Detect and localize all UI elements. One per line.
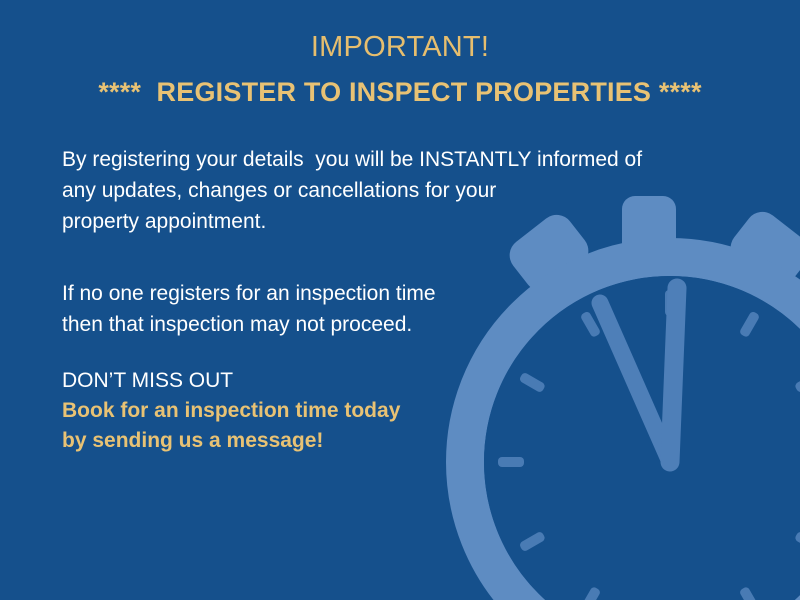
cta-book-inspection: Book for an inspection time today [62, 396, 582, 426]
body-paragraph-no-registrations: If no one registers for an inspection ti… [62, 278, 722, 340]
headline-register: **** REGISTER TO INSPECT PROPERTIES **** [0, 72, 800, 112]
headline-important: IMPORTANT! [0, 28, 800, 66]
stopwatch-right-button [724, 205, 800, 295]
body-copy-block: By registering your details you will be … [62, 144, 722, 340]
call-to-action-block: DON’T MISS OUT Book for an inspection ti… [62, 366, 582, 456]
headline-block: IMPORTANT! **** REGISTER TO INSPECT PROP… [0, 28, 800, 112]
body-paragraph-registering: By registering your details you will be … [62, 144, 722, 237]
cta-send-message: by sending us a message! [62, 426, 582, 456]
cta-dont-miss-out: DON’T MISS OUT [62, 366, 582, 396]
slide-canvas: IMPORTANT! **** REGISTER TO INSPECT PROP… [0, 0, 800, 600]
